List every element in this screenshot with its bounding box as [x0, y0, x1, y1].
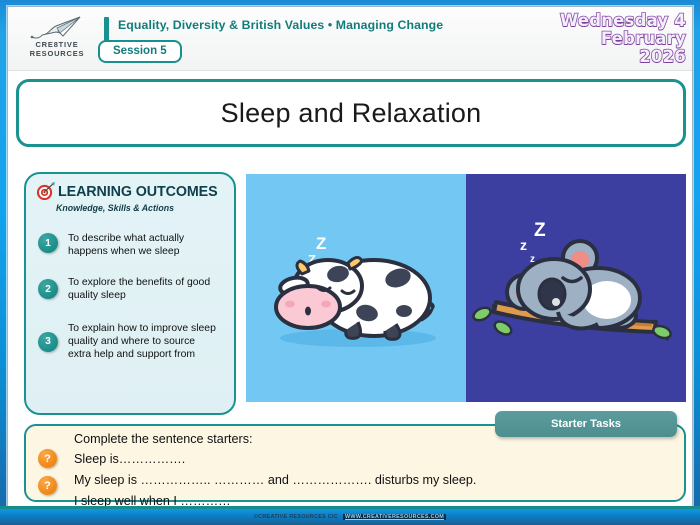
footer-strip: ©CREATIVE RESOURCES CIC WWW.CREATIVERESO… [0, 509, 700, 525]
slide-canvas: CRE8TIVE RESOURCES Equality, Diversity &… [0, 0, 700, 525]
target-dart-icon [36, 182, 55, 201]
footer-copyright: ©CREATIVE RESOURCES CIC [254, 514, 338, 520]
course-title: Equality, Diversity & British Values • M… [118, 18, 538, 32]
slide-header: CRE8TIVE RESOURCES Equality, Diversity &… [8, 7, 693, 71]
question-mark-icon-1: ? [38, 449, 57, 468]
slide-title-box: Sleep and Relaxation [16, 79, 686, 147]
learning-outcome-item-2: 2 To explore the benefits of good qualit… [38, 276, 218, 302]
paper-plane-icon [30, 15, 84, 41]
cow-svg: Z Z z [246, 174, 466, 402]
outcome-number-1: 1 [38, 233, 58, 253]
date-display: Wednesday 4 February 2026 [491, 12, 686, 66]
date-line-1: Wednesday 4 February [491, 12, 686, 48]
task-line-2: Sleep is……………. [74, 452, 185, 466]
svg-text:Z: Z [534, 220, 546, 241]
outcome-text-3: To explain how to improve sleep quality … [68, 322, 218, 362]
outcome-number-3: 3 [38, 332, 58, 352]
svg-text:z: z [520, 237, 527, 253]
outcome-text-2: To explore the benefits of good quality … [68, 276, 218, 302]
learning-outcomes-header: LEARNING OUTCOMES [34, 182, 226, 201]
learning-outcome-item-3: 3 To explain how to improve sleep qualit… [38, 322, 218, 362]
task-line-1: Complete the sentence starters: [74, 432, 253, 446]
brand-logo-line2: RESOURCES [18, 50, 96, 59]
svg-text:Z: Z [316, 234, 326, 253]
outcome-number-2: 2 [38, 279, 58, 299]
learning-outcomes-panel: LEARNING OUTCOMES Knowledge, Skills & Ac… [24, 172, 236, 415]
outcome-text-1: To describe what actually happens when w… [68, 232, 218, 258]
footer-website-link[interactable]: WWW.CREATIVERESOURCES.COM [343, 514, 446, 520]
question-mark-icon-2: ? [38, 476, 57, 495]
learning-outcomes-title: LEARNING OUTCOMES [58, 184, 218, 200]
task-line-3: My sleep is …………….. ………… and ………………. dis… [74, 473, 476, 487]
slide-inner-frame: CRE8TIVE RESOURCES Equality, Diversity &… [7, 6, 693, 513]
koala-svg: Z z z [466, 174, 686, 402]
starter-tasks-tab[interactable]: Starter Tasks [495, 411, 677, 437]
sleeping-cow-illustration: Z Z z [246, 174, 466, 402]
sleeping-koala-illustration: Z z z [466, 174, 686, 402]
date-line-2: 2026 [491, 48, 686, 66]
page-title: Sleep and Relaxation [221, 98, 482, 129]
session-badge[interactable]: Session 5 [98, 40, 182, 63]
brand-logo[interactable]: CRE8TIVE RESOURCES [18, 13, 96, 65]
learning-outcomes-subtitle: Knowledge, Skills & Actions [56, 203, 226, 213]
learning-outcome-item-1: 1 To describe what actually happens when… [38, 232, 218, 258]
illustration-row: Z Z z [246, 174, 686, 402]
